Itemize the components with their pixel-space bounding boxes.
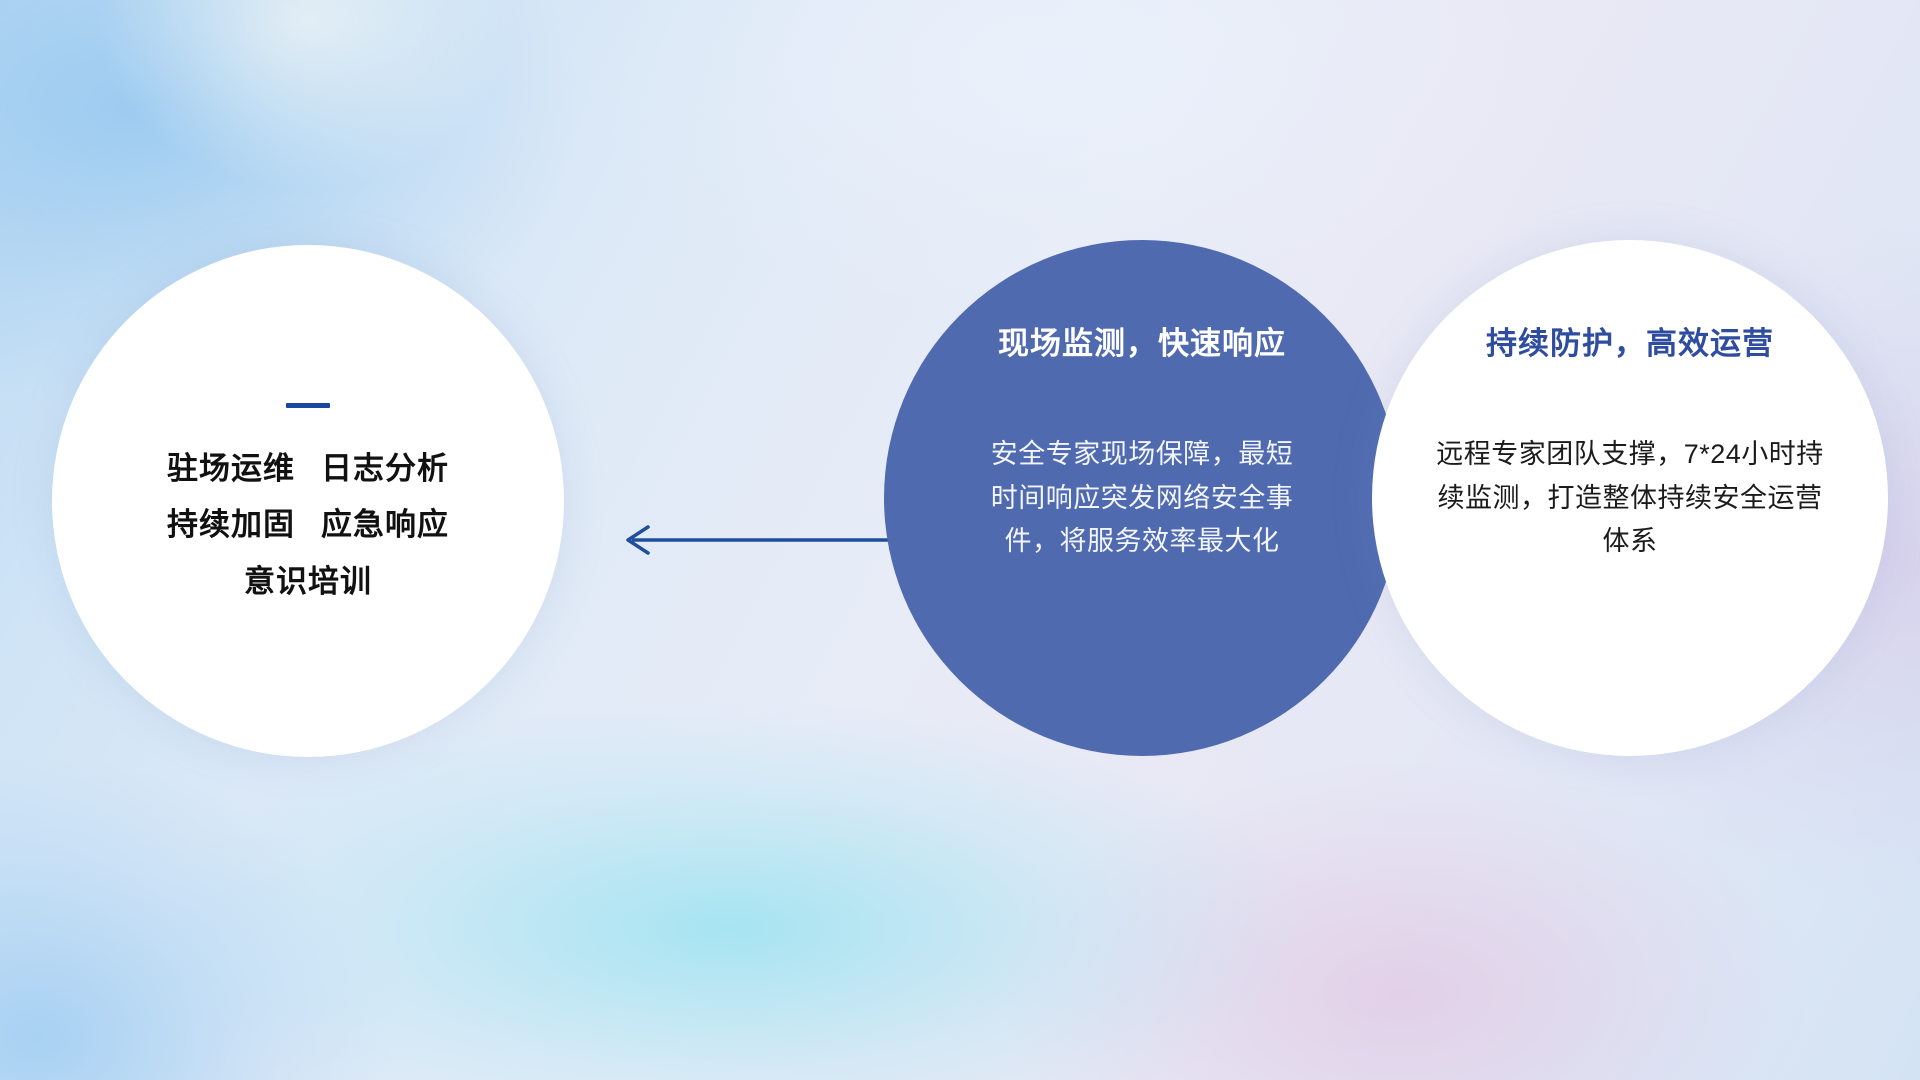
service-tag: 驻场运维 (167, 451, 295, 486)
leftward-arrow-icon (610, 520, 895, 560)
circle-service-capabilities[interactable]: 驻场运维日志分析 持续加固应急响应 意识培训 (52, 245, 564, 757)
circle-onsite-monitoring[interactable]: 现场监测，快速响应 安全专家现场保障，最短时间响应突发网络安全事件，将服务效率最… (884, 240, 1400, 756)
service-tag: 日志分析 (321, 451, 449, 486)
service-tag: 意识培训 (244, 564, 372, 599)
service-tag: 应急响应 (321, 507, 449, 542)
service-tag: 持续加固 (167, 507, 295, 542)
list-item: 持续加固应急响应 (167, 508, 449, 542)
list-item: 驻场运维日志分析 (167, 452, 449, 486)
service-capability-list: 驻场运维日志分析 持续加固应急响应 意识培训 (167, 452, 449, 598)
circle-onsite-monitoring-body: 安全专家现场保障，最短时间响应突发网络安全事件，将服务效率最大化 (987, 433, 1297, 564)
slide-canvas: 现场监测，快速响应 安全专家现场保障，最短时间响应突发网络安全事件，将服务效率最… (0, 0, 1920, 1080)
divider-dash-icon (286, 403, 330, 408)
circle-onsite-monitoring-title: 现场监测，快速响应 (998, 318, 1286, 363)
circle-continuous-protection-title: 持续防护，高效运营 (1486, 318, 1774, 363)
circle-continuous-protection-body: 远程专家团队支撑，7*24小时持续监测，打造整体持续安全运营体系 (1425, 433, 1835, 564)
list-item: 意识培训 (244, 565, 372, 599)
circle-continuous-protection[interactable]: 持续防护，高效运营 远程专家团队支撑，7*24小时持续监测，打造整体持续安全运营… (1372, 240, 1888, 756)
